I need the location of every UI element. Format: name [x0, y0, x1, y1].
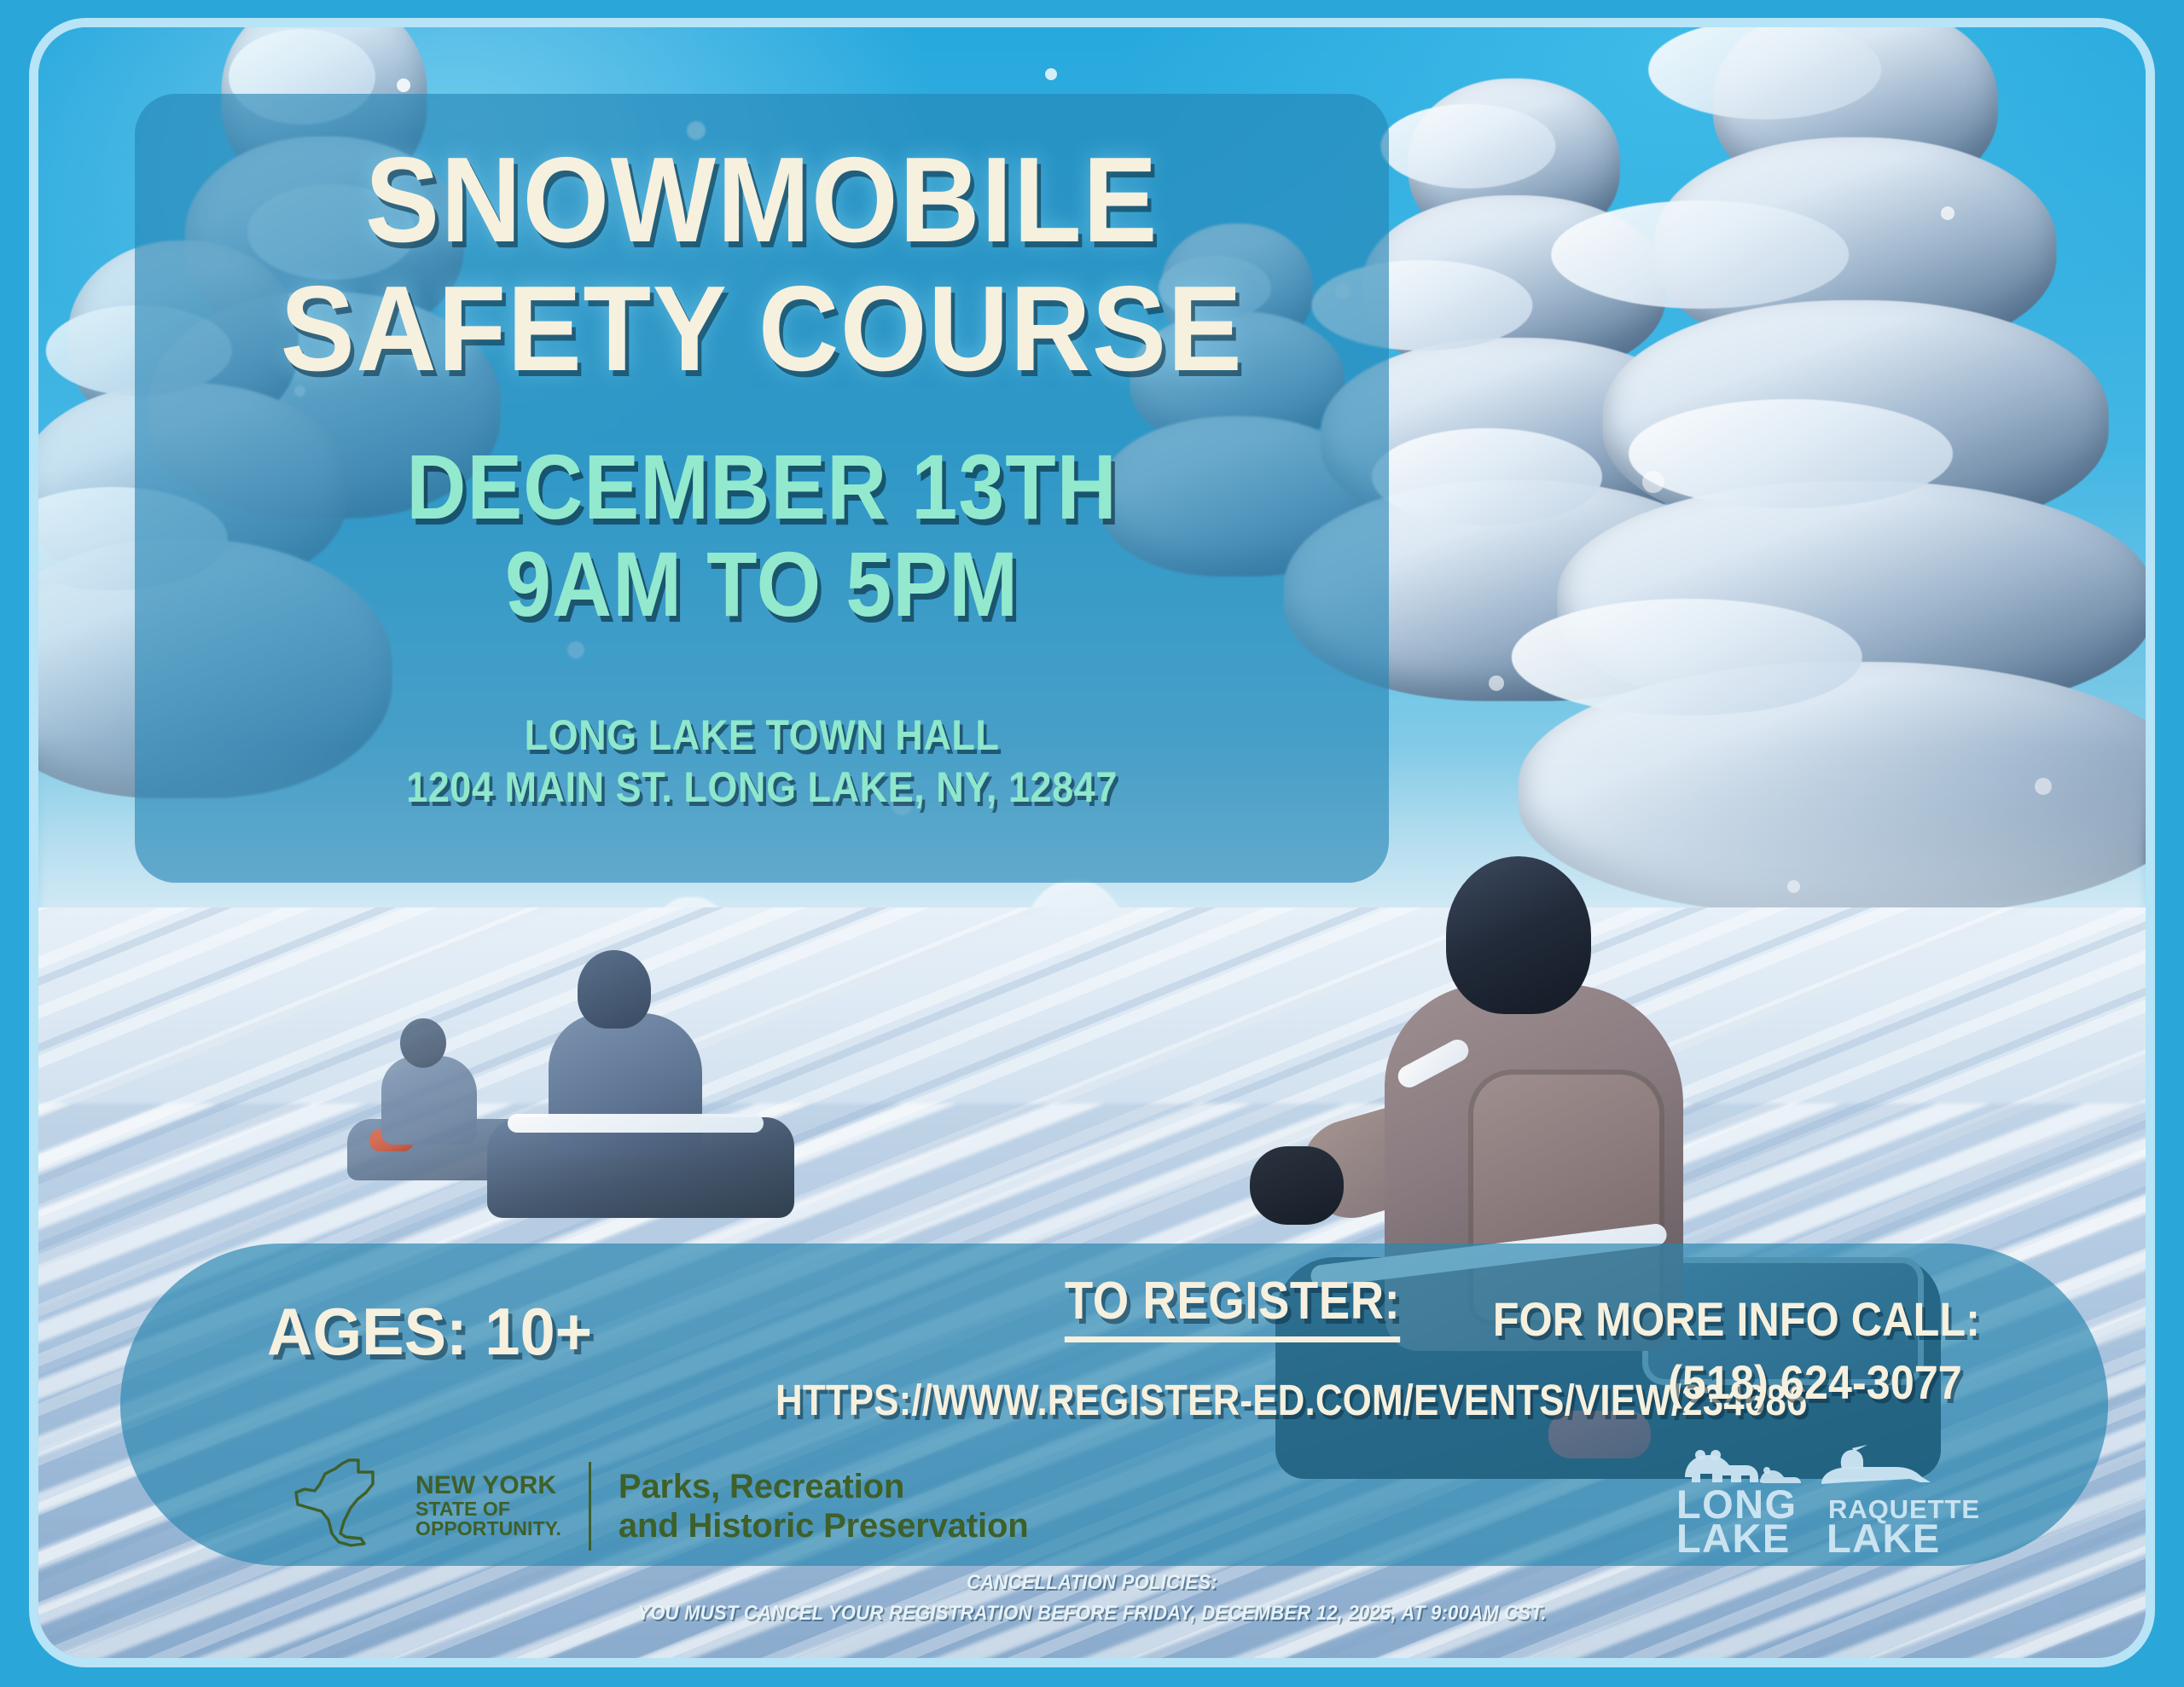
registration-url-link[interactable]: HTTPS://WWW.REGISTER-ED.COM/EVENTS/VIEW/…: [775, 1375, 1808, 1425]
venue-address: 1204 MAIN ST. LONG LAKE, NY, 12847: [198, 762, 1327, 814]
cancellation-policy: CANCELLATION POLICIES: YOU MUST CANCEL Y…: [123, 1568, 2061, 1629]
long-lake-word-lake: LAKE: [1676, 1520, 1791, 1557]
bottom-info-bar: AGES: 10+ TO REGISTER: HTTPS://WWW.REGIS…: [120, 1244, 2108, 1566]
page-title-line-1: SNOWMOBILE: [185, 94, 1339, 258]
raquette-lake-word-lake: LAKE: [1827, 1520, 1941, 1557]
long-lake-raquette-lake-logo: LONG LAKE RAQUETTE LAKE: [1675, 1445, 1956, 1561]
snowflake: [397, 78, 410, 92]
snowflake: [2035, 778, 2052, 795]
rider-far-body: [381, 1056, 477, 1145]
snowmobile-rider-mid: [516, 950, 772, 1206]
ny-state-line-2: STATE OF: [415, 1499, 561, 1519]
snowflake: [1045, 68, 1057, 80]
agency-line-1: Parks, Recreation: [619, 1467, 1029, 1506]
snowmobile-mid-snow: [508, 1114, 764, 1133]
ny-state-line-3: OPPORTUNITY.: [415, 1519, 561, 1539]
snowflake: [1941, 206, 1955, 220]
ny-state-parks-logo: NEW YORK STATE OF OPPORTUNITY. Parks, Re…: [291, 1455, 1029, 1557]
header-info-panel: SNOWMOBILE SAFETY COURSE DECEMBER 13TH 9…: [135, 94, 1389, 883]
contact-phone-number[interactable]: (518) 624-3077: [1668, 1354, 1962, 1410]
event-time: 9AM TO 5PM: [198, 534, 1327, 631]
snowflake: [1489, 675, 1504, 691]
venue-name: LONG LAKE TOWN HALL: [198, 631, 1327, 762]
age-requirement: AGES: 10+: [267, 1293, 592, 1371]
cancellation-policy-body: YOU MUST CANCEL YOUR REGISTRATION BEFORE…: [123, 1598, 2061, 1629]
logo-divider: [589, 1462, 591, 1551]
agency-name: Parks, Recreation and Historic Preservat…: [619, 1467, 1029, 1546]
poster-art-frame: SNOWMOBILE SAFETY COURSE DECEMBER 13TH 9…: [38, 27, 2146, 1658]
register-heading: TO REGISTER:: [1065, 1271, 1401, 1342]
rider-glove: [1250, 1146, 1344, 1225]
page-title-line-2: SAFETY COURSE: [185, 258, 1339, 387]
poster-root: SNOWMOBILE SAFETY COURSE DECEMBER 13TH 9…: [0, 0, 2184, 1687]
rider-helmet: [1446, 856, 1591, 1014]
rider-far-helmet: [400, 1018, 446, 1068]
cancellation-policy-heading: CANCELLATION POLICIES:: [123, 1568, 2061, 1598]
agency-line-2: and Historic Preservation: [619, 1506, 1029, 1545]
event-date: DECEMBER 13TH: [198, 387, 1327, 534]
ny-state-line-1: NEW YORK: [415, 1473, 561, 1499]
snowflake: [1787, 880, 1800, 893]
contact-heading: FOR MORE INFO CALL:: [1493, 1293, 1980, 1346]
rider-mid-body: [549, 1013, 702, 1157]
ny-state-wordmark: NEW YORK STATE OF OPPORTUNITY.: [415, 1473, 561, 1539]
snowflake: [1642, 471, 1664, 493]
rider-mid-helmet: [578, 950, 651, 1029]
new-york-state-outline-icon: [291, 1455, 397, 1557]
